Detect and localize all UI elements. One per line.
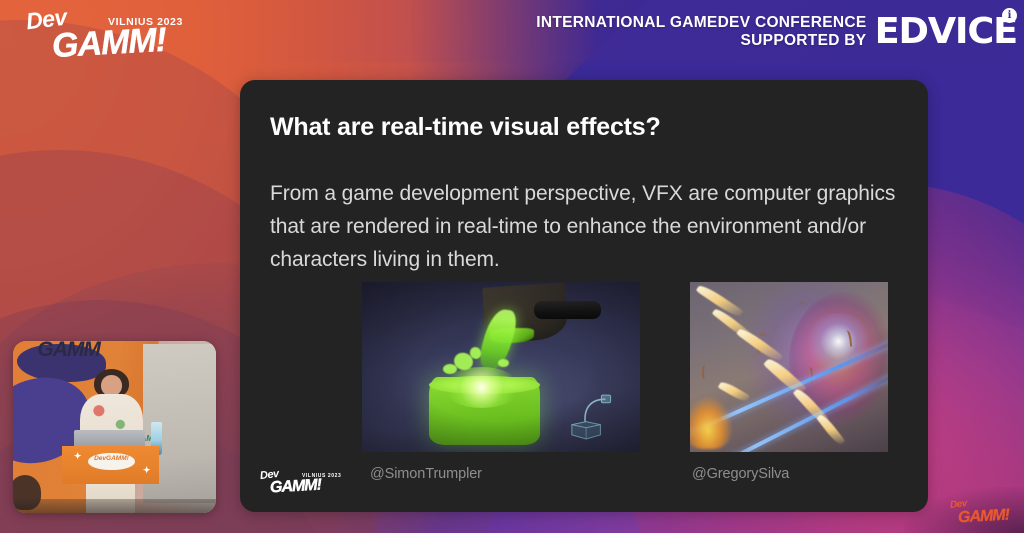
slime-vignette	[362, 282, 640, 452]
vfx-image-frame	[690, 282, 888, 452]
slide-title: What are real-time visual effects?	[270, 113, 661, 142]
header-right-group: INTERNATIONAL GAMEDEV CONFERENCE SUPPORT…	[536, 9, 1016, 55]
slide-logo-gamm: GAMM!	[270, 477, 322, 498]
presentation-slide: What are real-time visual effects? From …	[240, 80, 928, 512]
devgamm-logo: Dev GAMM! VILNIUS 2023	[16, 4, 226, 60]
conference-tagline-line2: SUPPORTED BY	[536, 32, 866, 51]
podium-sparkle-icon: ✦	[143, 465, 151, 476]
image-credit-1: @SimonTrumpler	[370, 466, 482, 482]
edvice-wordmark: EDVICE	[875, 14, 1017, 50]
edvice-sponsor-logo: EDVICE i	[876, 14, 1016, 50]
watermark-gamm: GAMM!	[958, 507, 1010, 528]
speaker-webcam-inset: GAMM DevGAMM! DevGAMM! ✦ ✦	[13, 341, 216, 513]
backdrop-logo-text: GAMM	[37, 341, 100, 362]
podium-logo-text: DevGAMM!	[88, 455, 135, 467]
corner-watermark-logo: Dev GAMM!	[942, 499, 1018, 529]
conference-tagline-line1: INTERNATIONAL GAMEDEV CONFERENCE	[536, 14, 866, 33]
speaker-face	[101, 375, 121, 396]
vfx-image-frame	[362, 282, 640, 452]
vfx-example-image-2	[690, 282, 888, 452]
stage-floor	[13, 499, 216, 513]
devgamm-logo-city: VILNIUS 2023	[108, 16, 183, 28]
vfx-example-image-1	[362, 282, 640, 452]
slide-content: What are real-time visual effects? From …	[240, 80, 928, 512]
info-circle-icon: i	[1002, 8, 1017, 23]
sparks-flame-glow	[690, 387, 734, 448]
slide-devgamm-logo: Dev GAMM! VILNIUS 2023	[256, 468, 346, 502]
slide-logo-city: VILNIUS 2023	[302, 473, 341, 479]
image-credit-2: @GregorySilva	[692, 466, 789, 482]
podium-sparkle-icon: ✦	[74, 451, 82, 462]
conference-tagline: INTERNATIONAL GAMEDEV CONFERENCE SUPPORT…	[536, 14, 866, 51]
screen: Dev GAMM! VILNIUS 2023 INTERNATIONAL GAM…	[0, 0, 1024, 533]
slide-body-text: From a game development perspective, VFX…	[270, 177, 900, 276]
